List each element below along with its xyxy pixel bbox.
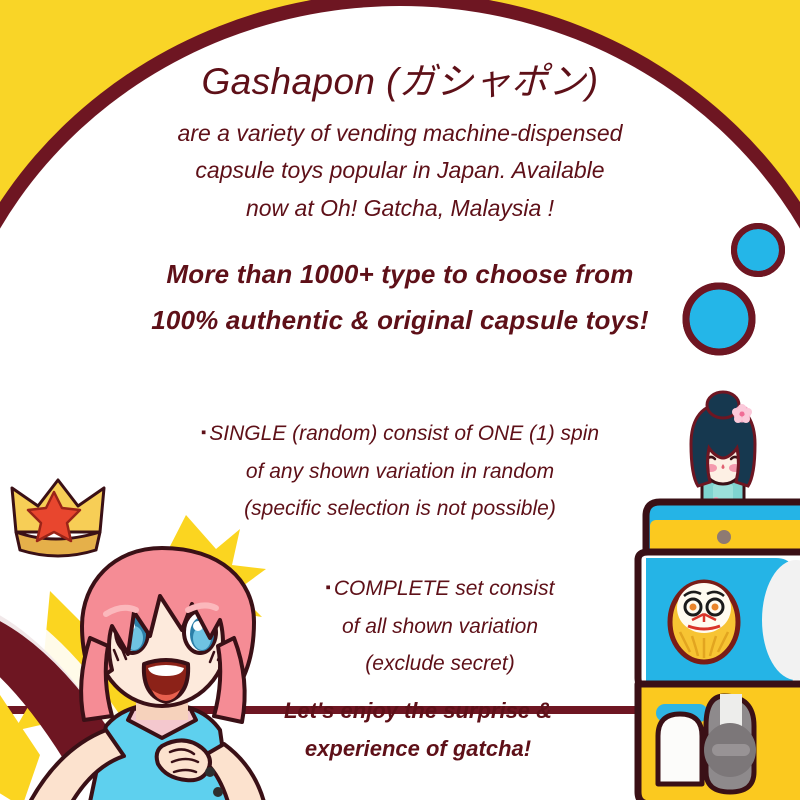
- single-option-text: SINGLE (random) consist of ONE (1) spin …: [209, 422, 599, 520]
- headline-text: More than 1000+ type to choose from 100%…: [0, 252, 800, 343]
- single-option-block: ▪SINGLE (random) consist of ONE (1) spin…: [0, 378, 800, 528]
- bullet-icon-complete: ▪: [326, 579, 331, 596]
- bullet-icon-single: ▪: [201, 424, 206, 441]
- page-title: Gashapon (ガシャポン): [0, 58, 800, 105]
- mascot-girl: [10, 530, 310, 800]
- intro-paragraph: are a variety of vending machine-dispens…: [0, 115, 800, 227]
- complete-option-text: COMPLETE set consist of all shown variat…: [334, 577, 555, 675]
- gashapon-promo-poster: Gashapon (ガシャポン) are a variety of vendin…: [0, 0, 800, 800]
